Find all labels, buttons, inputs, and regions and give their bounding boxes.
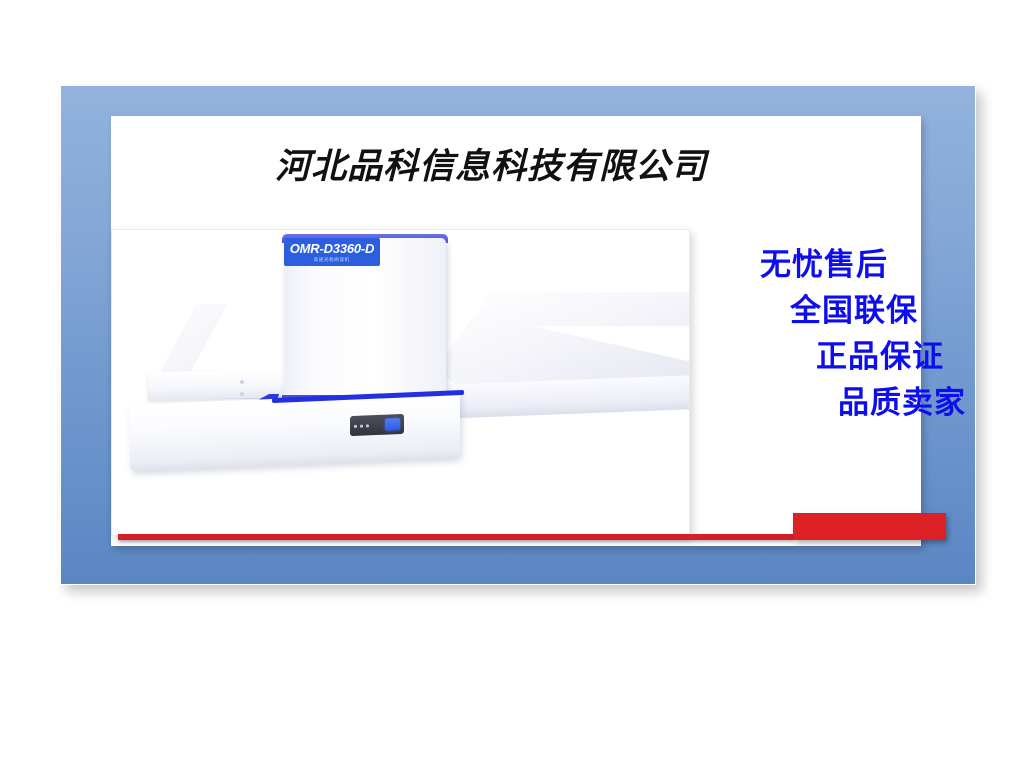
slogan-item-1: 无忧售后 bbox=[691, 242, 966, 288]
power-button-icon bbox=[385, 418, 400, 431]
slogan-item-4: 品质卖家 bbox=[691, 380, 966, 426]
slogan-item-2: 全国联保 bbox=[691, 288, 966, 334]
slogan-item-3: 正品保证 bbox=[691, 334, 966, 380]
accent-bar-thin bbox=[118, 534, 793, 540]
slide-blue-frame: 河北品科信息科技有限公司 品科 OMR-D3360-D 高速光标阅读机 bbox=[60, 85, 976, 585]
model-label: OMR-D3360-D bbox=[290, 242, 374, 255]
content-white-panel: 河北品科信息科技有限公司 品科 OMR-D3360-D 高速光标阅读机 bbox=[111, 116, 921, 546]
machine-body-icon bbox=[130, 391, 460, 471]
slide-canvas: 河北品科信息科技有限公司 品科 OMR-D3360-D 高速光标阅读机 bbox=[0, 0, 1024, 768]
screw-icon bbox=[240, 380, 244, 384]
accent-bar-block bbox=[793, 513, 946, 540]
indicator-led-icon bbox=[354, 424, 357, 427]
control-panel-icon bbox=[350, 414, 404, 436]
model-sublabel: 高速光标阅读机 bbox=[314, 258, 350, 263]
screw-icon bbox=[240, 392, 244, 396]
indicator-led-icon bbox=[366, 424, 369, 427]
product-photo: OMR-D3360-D 高速光标阅读机 bbox=[111, 229, 690, 536]
scanner-head-icon: OMR-D3360-D 高速光标阅读机 bbox=[284, 238, 446, 401]
slogan-list: 无忧售后 全国联保 正品保证 品质卖家 bbox=[691, 242, 966, 426]
page-title: 河北品科信息科技有限公司 bbox=[111, 138, 871, 189]
indicator-led-icon bbox=[360, 424, 363, 427]
model-plate: OMR-D3360-D 高速光标阅读机 bbox=[284, 238, 380, 266]
